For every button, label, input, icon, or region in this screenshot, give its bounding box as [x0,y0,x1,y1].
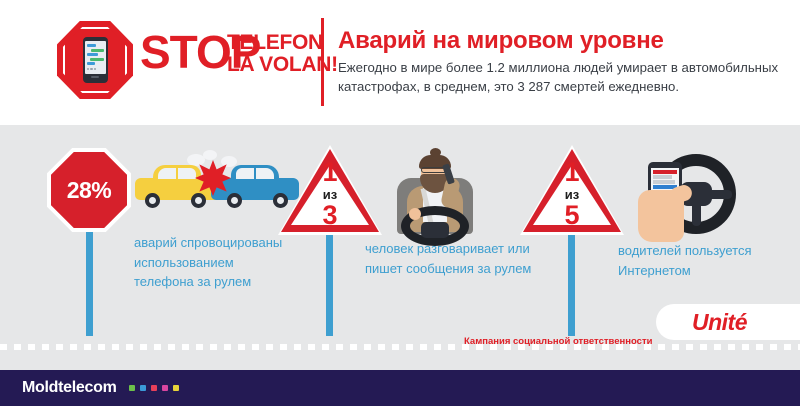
smoke-puff [221,156,237,167]
screen-row [653,175,672,179]
sign-pole-2 [326,231,333,336]
sign-pole-1 [86,228,93,336]
phone-home-button [91,76,99,78]
smoke-puff [203,150,217,160]
stop-sign-logo-icon [57,21,133,99]
stat-1-caption: аварий спровоцированы использованием тел… [134,233,284,292]
moldtelecom-dots-icon [129,385,179,391]
brand-dot [162,385,168,391]
chat-bubble [87,53,98,56]
brand-dot [140,385,146,391]
car-crash-icon [135,152,270,224]
stat-3-caption: водителей пользуется Интернетом [618,241,758,280]
chat-bubble [87,44,96,47]
phone-icon [83,37,108,83]
driver-hand [409,208,421,220]
unite-logo-pill: Unité [656,304,800,340]
header: STOP TELEFON LA VOLAN! Аварий на мировом… [0,0,800,125]
stat-2-ratio: 1 из 3 [278,159,382,229]
screen-row [653,170,677,174]
stat-2-triangle-sign: 1 из 3 [278,145,382,235]
chat-bubble [87,62,95,65]
infographic-page: STOP TELEFON LA VOLAN! Аварий на мировом… [0,0,800,406]
unite-logo-text: Unité [692,309,747,336]
stop-sign-inner [63,27,127,93]
stat-2-numerator: 1 [322,159,337,186]
phone-screen [85,41,106,74]
collision-burst-icon [195,160,231,196]
stat-3-denominator: 5 [564,202,579,229]
stat-3-numerator: 1 [564,159,579,186]
footer: Moldtelecom [0,370,800,406]
sign-pole-3 [568,231,575,336]
screen-row [653,180,675,184]
stat-1-value: 28% [67,177,112,204]
car-yellow-window [158,168,196,179]
road-dashed-line [0,344,800,350]
brand-dot [129,385,135,391]
stat-2-caption: человек разговаривает или пишет сообщени… [365,239,545,278]
octagon-inner: 28% [51,152,127,228]
steering-wheel-hub [421,222,449,238]
wheel [227,193,242,208]
car-blue-window [236,168,274,179]
hand [638,190,684,242]
stat-1-octagon-sign: 28% [47,148,131,232]
brand-dot [173,385,179,391]
page-title: Аварий на мировом уровне [338,27,664,55]
hand-phone-steering-wheel-icon [630,146,740,242]
driver-hair-bun [430,148,441,157]
chat-bubble [91,49,104,52]
campaign-note: Кампания социальной ответственности [464,336,652,347]
stat-3-ratio: 1 из 5 [520,159,624,229]
moldtelecom-logo: Moldtelecom [22,379,117,397]
page-subtitle: Ежегодно в мире более 1.2 миллиона людей… [338,58,788,96]
header-divider [321,18,324,106]
typing-dots-icon [87,68,104,71]
chat-bubble [90,58,104,61]
brand-dot [151,385,157,391]
stat-2-denominator: 3 [322,202,337,229]
driver-on-phone-icon [385,148,485,240]
wheel [145,193,160,208]
wheel [191,193,206,208]
stat-3-triangle-sign: 1 из 5 [520,145,624,235]
